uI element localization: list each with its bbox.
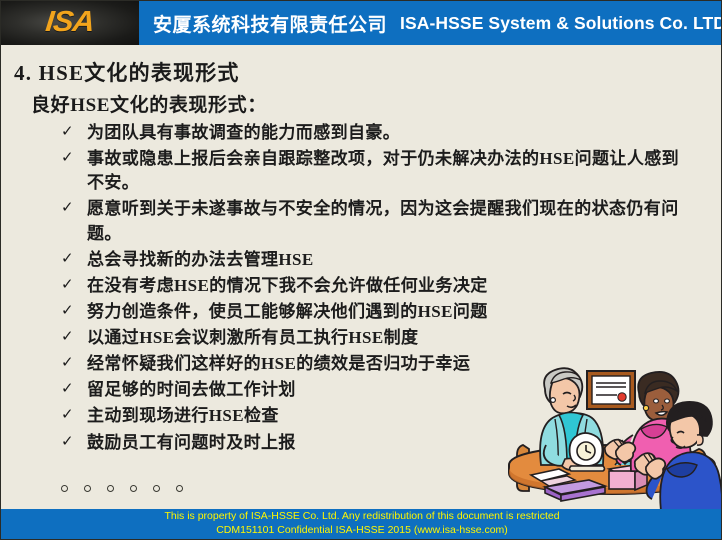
list-item-label: 在没有考虑HSE的情况下我不会允许做任何业务决定 (87, 276, 488, 295)
slide-footer: This is property of ISA-HSSE Co. Ltd. An… (1, 509, 722, 539)
list-item-label: 以通过HSE会议刺激所有员工执行HSE制度 (87, 328, 418, 347)
logo-pane: ISA (1, 1, 139, 45)
list-item-label: 努力创造条件，使员工能够解决他们遇到的HSE问题 (87, 302, 488, 321)
award-ceremony-clipart (501, 353, 722, 511)
page-subtitle: 良好HSE文化的表现形式： (31, 90, 267, 117)
list-item-label: 主动到现场进行HSE检查 (87, 406, 279, 425)
page-title: 4. HSE文化的表现形式 (14, 57, 240, 87)
list-item-label: 总会寻找新的办法去管理HSE (87, 250, 314, 269)
footer-document-id-line: CDM151101 Confidential ISA-HSSE 2015 (ww… (216, 524, 508, 538)
list-item-label: 事故或隐患上报后会亲自跟踪整改项，对于仍未解决办法的HSE问题让人感到不安。 (87, 149, 679, 192)
slide-header: ISA 安厦系统科技有限责任公司 ISA-HSSE System & Solut… (1, 1, 722, 45)
company-name-en: ISA-HSSE System & Solutions Co. LTD (400, 13, 722, 34)
dot-marker-icon (107, 485, 114, 492)
dot-marker-icon (130, 485, 137, 492)
list-item-label: 经常怀疑我们这样好的HSE的绩效是否归功于幸运 (87, 354, 470, 373)
dot-marker-icon (84, 485, 91, 492)
list-item: ✓ 为团队具有事故调查的能力而感到自豪。 (59, 121, 684, 145)
check-icon: ✓ (61, 274, 74, 295)
slide-content: 4. HSE文化的表现形式 良好HSE文化的表现形式： ✓ 为团队具有事故调查的… (1, 45, 722, 511)
list-item: ✓ 总会寻找新的办法去管理HSE (59, 248, 684, 272)
list-item-label: 留足够的时间去做工作计划 (87, 380, 296, 399)
list-item: ✓ 以通过HSE会议刺激所有员工执行HSE制度 (59, 326, 684, 350)
list-item: ✓ 事故或隐患上报后会亲自跟踪整改项，对于仍未解决办法的HSE问题让人感到不安。 (59, 147, 684, 195)
slide: ISA 安厦系统科技有限责任公司 ISA-HSSE System & Solut… (0, 0, 722, 540)
check-icon: ✓ (61, 326, 74, 347)
check-icon: ✓ (61, 197, 74, 218)
check-icon: ✓ (61, 404, 74, 425)
check-icon: ✓ (61, 352, 74, 373)
check-icon: ✓ (61, 431, 74, 452)
isa-logo-icon: ISA (44, 8, 95, 37)
list-item-label: 鼓励员工有问题时及时上报 (87, 433, 296, 452)
list-item: ✓ 努力创造条件，使员工能够解决他们遇到的HSE问题 (59, 300, 684, 324)
list-item: ✓ 在没有考虑HSE的情况下我不会允许做任何业务决定 (59, 274, 684, 298)
footer-copyright-line: This is property of ISA-HSSE Co. Ltd. An… (164, 510, 559, 524)
check-icon: ✓ (61, 300, 74, 321)
check-icon: ✓ (61, 378, 74, 399)
company-name-cn: 安厦系统科技有限责任公司 (153, 10, 387, 37)
dot-marker-icon (176, 485, 183, 492)
trailing-dot-markers (61, 485, 183, 492)
list-item-label: 愿意听到关于未遂事故与不安全的情况，因为这会提醒我们现在的状态仍有问题。 (87, 199, 679, 242)
check-icon: ✓ (61, 147, 74, 168)
list-item: ✓ 愿意听到关于未遂事故与不安全的情况，因为这会提醒我们现在的状态仍有问题。 (59, 197, 684, 245)
dot-marker-icon (153, 485, 160, 492)
dot-marker-icon (61, 485, 68, 492)
list-item-label: 为团队具有事故调查的能力而感到自豪。 (87, 123, 400, 142)
header-title-pane: 安厦系统科技有限责任公司 ISA-HSSE System & Solutions… (139, 1, 722, 45)
check-icon: ✓ (61, 248, 74, 269)
check-icon: ✓ (61, 121, 74, 142)
